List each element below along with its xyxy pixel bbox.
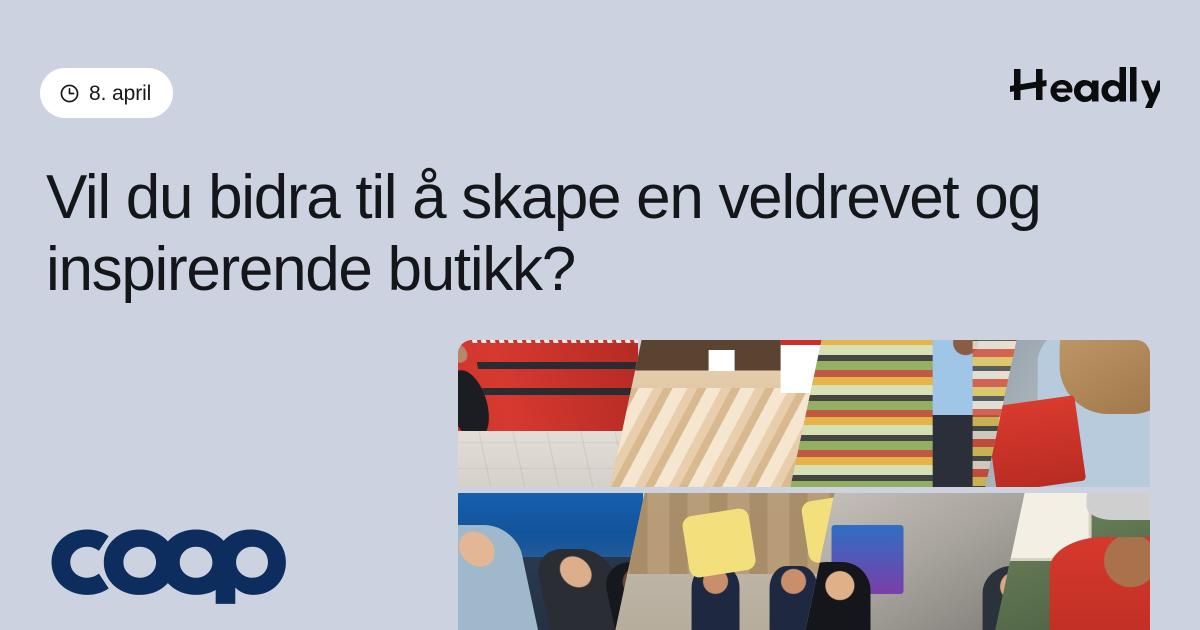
coop-logo xyxy=(45,518,290,604)
collage-photo-store-aisle-employee xyxy=(458,340,638,487)
headly-wordmark-icon xyxy=(1010,62,1160,108)
date-label: 8. april xyxy=(89,83,151,104)
collage-row-top xyxy=(458,340,1150,487)
headly-logo xyxy=(1010,62,1160,108)
coop-wordmark-icon xyxy=(45,518,290,604)
collage-photo-office-training xyxy=(458,493,643,630)
clock-icon xyxy=(59,83,80,104)
ad-banner: 8. april Vil du bidra til å ska xyxy=(0,0,1200,630)
photo-collage xyxy=(458,340,1150,630)
date-badge: 8. april xyxy=(40,68,173,118)
page-title: Vil du bidra til å skape en veldrevet og… xyxy=(46,162,1116,306)
collage-row-bottom xyxy=(458,493,1150,630)
